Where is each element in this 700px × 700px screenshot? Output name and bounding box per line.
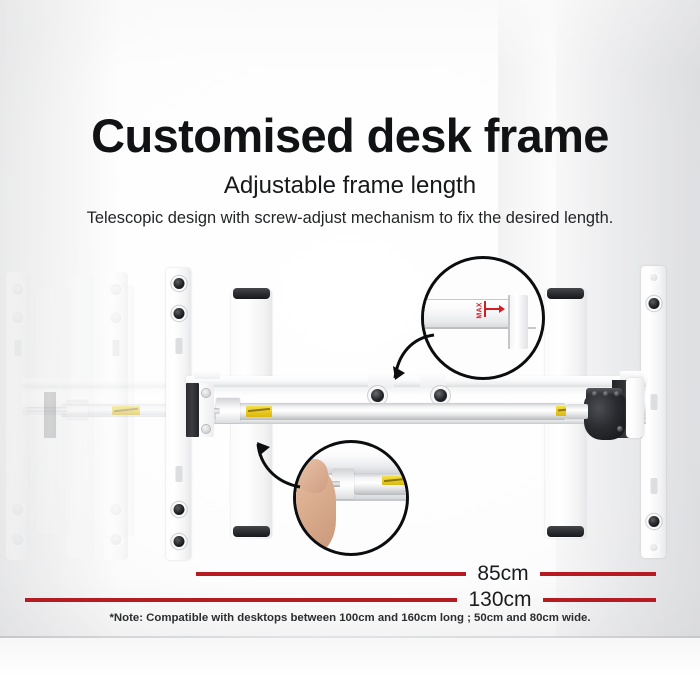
leg-screw-bottom-2 <box>173 536 184 547</box>
measure-line-85-right <box>540 572 656 576</box>
right-leg-pin-top <box>650 274 657 281</box>
right-foot-pad-top <box>547 288 584 299</box>
leg-screw-top-1 <box>173 278 184 289</box>
callout-endcap-edge <box>508 295 510 349</box>
max-text-label: MAX <box>477 302 484 318</box>
measure-line-85-left <box>196 572 466 576</box>
motor-shaft <box>566 404 588 419</box>
left-foot-pad-bottom <box>233 526 270 537</box>
measure-label-85: 85cm <box>472 562 534 586</box>
gearbox-bolt-3 <box>614 391 620 397</box>
gearbox-bolt-2 <box>603 391 609 397</box>
right-foot-pad-bottom <box>547 526 584 537</box>
leg-screw-bottom-1 <box>173 504 184 515</box>
right-leg-notch-upper <box>650 394 657 410</box>
right-beam-endplate <box>626 378 644 438</box>
crossbeam-screw-right <box>434 389 447 402</box>
callout-arrow-bottom <box>254 438 304 490</box>
leg-screw-top-2 <box>173 308 184 319</box>
measure-line-130-right <box>543 598 656 602</box>
left-bracket-dark <box>186 383 199 437</box>
callout-rail-endcap <box>508 295 528 349</box>
compatibility-note: *Note: Compatible with desktops between … <box>0 612 700 624</box>
left-bracket-screw-top <box>202 389 210 397</box>
ghost-warning-sticker <box>112 406 140 415</box>
left-foot-pad-top <box>233 288 270 299</box>
gearbox-bolt-4 <box>617 426 623 432</box>
product-marketing-image: Customised desk frame Adjustable frame l… <box>0 0 700 700</box>
callout2-sticker <box>382 476 408 485</box>
gearbox-housing <box>584 394 626 440</box>
measure-label-130: 130cm <box>463 588 537 612</box>
right-leg-screw-top <box>648 298 659 309</box>
crossbeam-screw-left <box>371 389 384 402</box>
ghost-leg-1 <box>6 272 30 560</box>
screw-adjust-callout <box>293 440 409 556</box>
gearbox-bolt-1 <box>592 391 598 397</box>
rod-warning-sticker-left <box>246 406 272 417</box>
leg-notch-lower <box>175 466 182 482</box>
crossbeam-tab-left <box>368 372 394 388</box>
left-bracket-ear <box>194 371 220 379</box>
max-arrow-icon <box>486 308 500 310</box>
right-leg-pin-bottom <box>650 544 657 551</box>
right-leg-notch-lower <box>650 478 657 494</box>
ghost-bracket <box>44 392 56 438</box>
callout-arrow-top <box>392 330 442 382</box>
measure-line-130-left <box>25 598 457 602</box>
right-leg-screw-bottom <box>648 516 659 527</box>
leg-notch-upper <box>175 338 182 354</box>
left-bracket-screw-bottom <box>202 425 210 433</box>
desk-frame-illustration: MAX <box>0 0 700 700</box>
ghost-rod-collar <box>66 400 88 420</box>
telescoping-rod <box>236 403 566 420</box>
